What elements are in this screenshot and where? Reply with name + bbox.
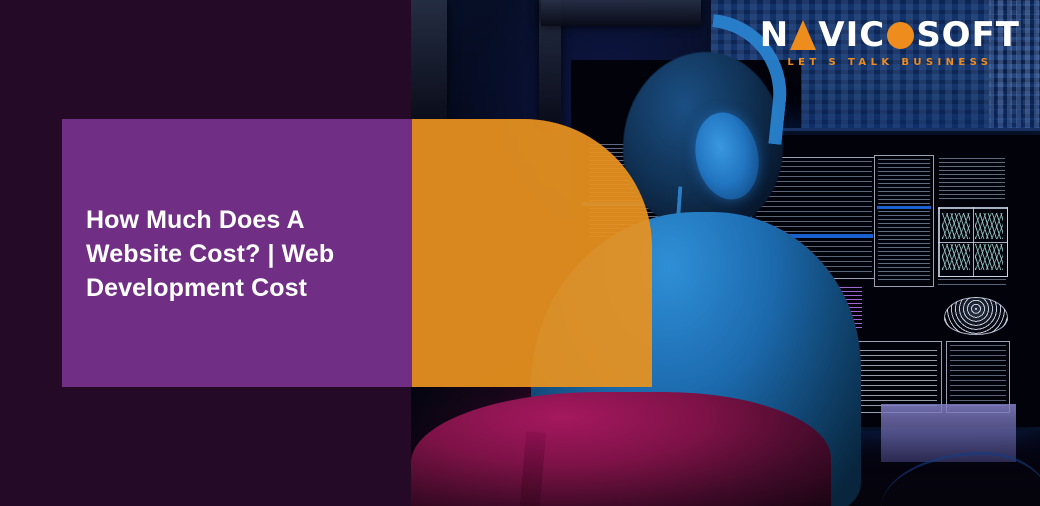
office-chair — [411, 392, 831, 506]
logo-letter-n: N — [760, 18, 789, 52]
logo-wordmark: N VIC SOFT — [760, 18, 1020, 52]
logo-letters-soft: SOFT — [916, 18, 1020, 52]
headline-panel: How Much Does A Website Cost? | Web Deve… — [62, 119, 412, 387]
navicosoft-logo[interactable]: N VIC SOFT LET S TALK BUSINESS — [760, 18, 1020, 68]
shelf-silhouette — [541, 0, 701, 26]
blog-banner: How Much Does A Website Cost? | Web Deve… — [0, 0, 1040, 506]
logo-letters-vic: VIC — [818, 18, 885, 52]
page-title: How Much Does A Website Cost? | Web Deve… — [86, 203, 396, 305]
mesh-dome-visual — [944, 297, 1008, 335]
side-panel-window — [946, 341, 1010, 413]
logo-letter-o-icon — [887, 22, 914, 49]
chart-grid — [938, 207, 1008, 277]
orange-accent-shape — [411, 119, 652, 387]
logo-tagline: LET S TALK BUSINESS — [760, 57, 1020, 68]
outline-panel — [936, 155, 1008, 203]
logo-letter-a-icon — [790, 20, 817, 50]
file-tree-window — [874, 155, 934, 287]
shelf-silhouette — [411, 0, 447, 132]
